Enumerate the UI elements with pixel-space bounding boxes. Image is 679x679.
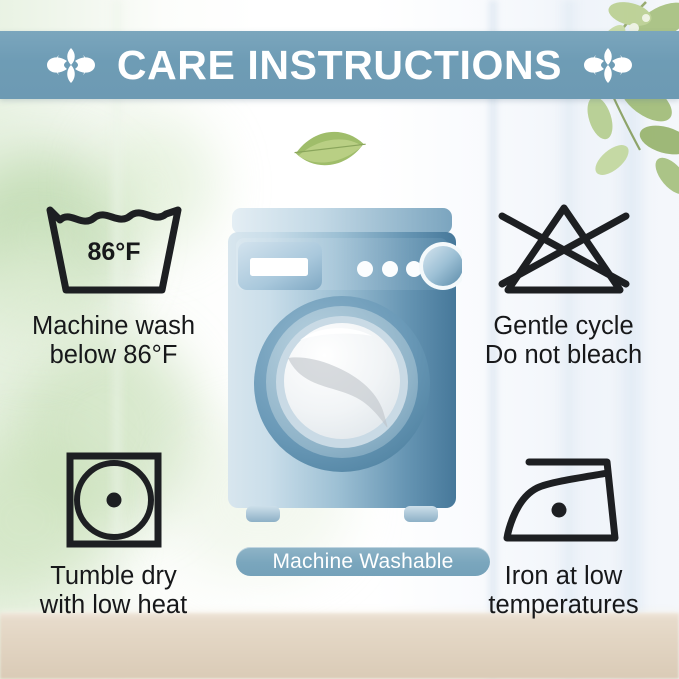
tumble-dry-low-icon xyxy=(6,446,221,554)
badge-label: Machine Washable xyxy=(272,551,453,572)
machine-foot xyxy=(404,506,438,522)
wooden-floor xyxy=(0,613,679,679)
machine-foot xyxy=(246,506,280,522)
wash-temperature-value: 86°F xyxy=(87,238,140,266)
care-symbol-caption: Gentle cycle Do not bleach xyxy=(456,312,671,370)
machine-washable-badge: Machine Washable xyxy=(236,547,490,576)
care-symbol-tumble-dry-low: Tumble dry with low heat xyxy=(6,446,221,620)
care-symbol-caption: Tumble dry with low heat xyxy=(6,562,221,620)
care-instructions-graphic: CARE INSTRUCTIONS 86°F Machine wash belo… xyxy=(0,0,679,679)
care-symbol-caption: Iron at low temperatures xyxy=(456,562,671,620)
care-symbol-do-not-bleach: Gentle cycle Do not bleach xyxy=(456,196,671,370)
care-symbol-iron-low: Iron at low temperatures xyxy=(456,446,671,620)
iron-low-icon xyxy=(456,446,671,554)
fleur-de-lis-icon xyxy=(43,42,99,88)
machine-button xyxy=(357,261,373,277)
page-title: CARE INSTRUCTIONS xyxy=(117,45,562,86)
wash-tub-icon: 86°F xyxy=(6,196,221,304)
fleur-de-lis-icon xyxy=(580,42,636,88)
crossed-triangle-icon xyxy=(456,196,671,304)
care-symbol-machine-wash: 86°F Machine wash below 86°F xyxy=(6,196,221,370)
machine-button xyxy=(382,261,398,277)
header-banner: CARE INSTRUCTIONS xyxy=(0,31,679,99)
care-symbol-caption: Machine wash below 86°F xyxy=(6,312,221,370)
washing-machine-illustration xyxy=(222,206,462,536)
